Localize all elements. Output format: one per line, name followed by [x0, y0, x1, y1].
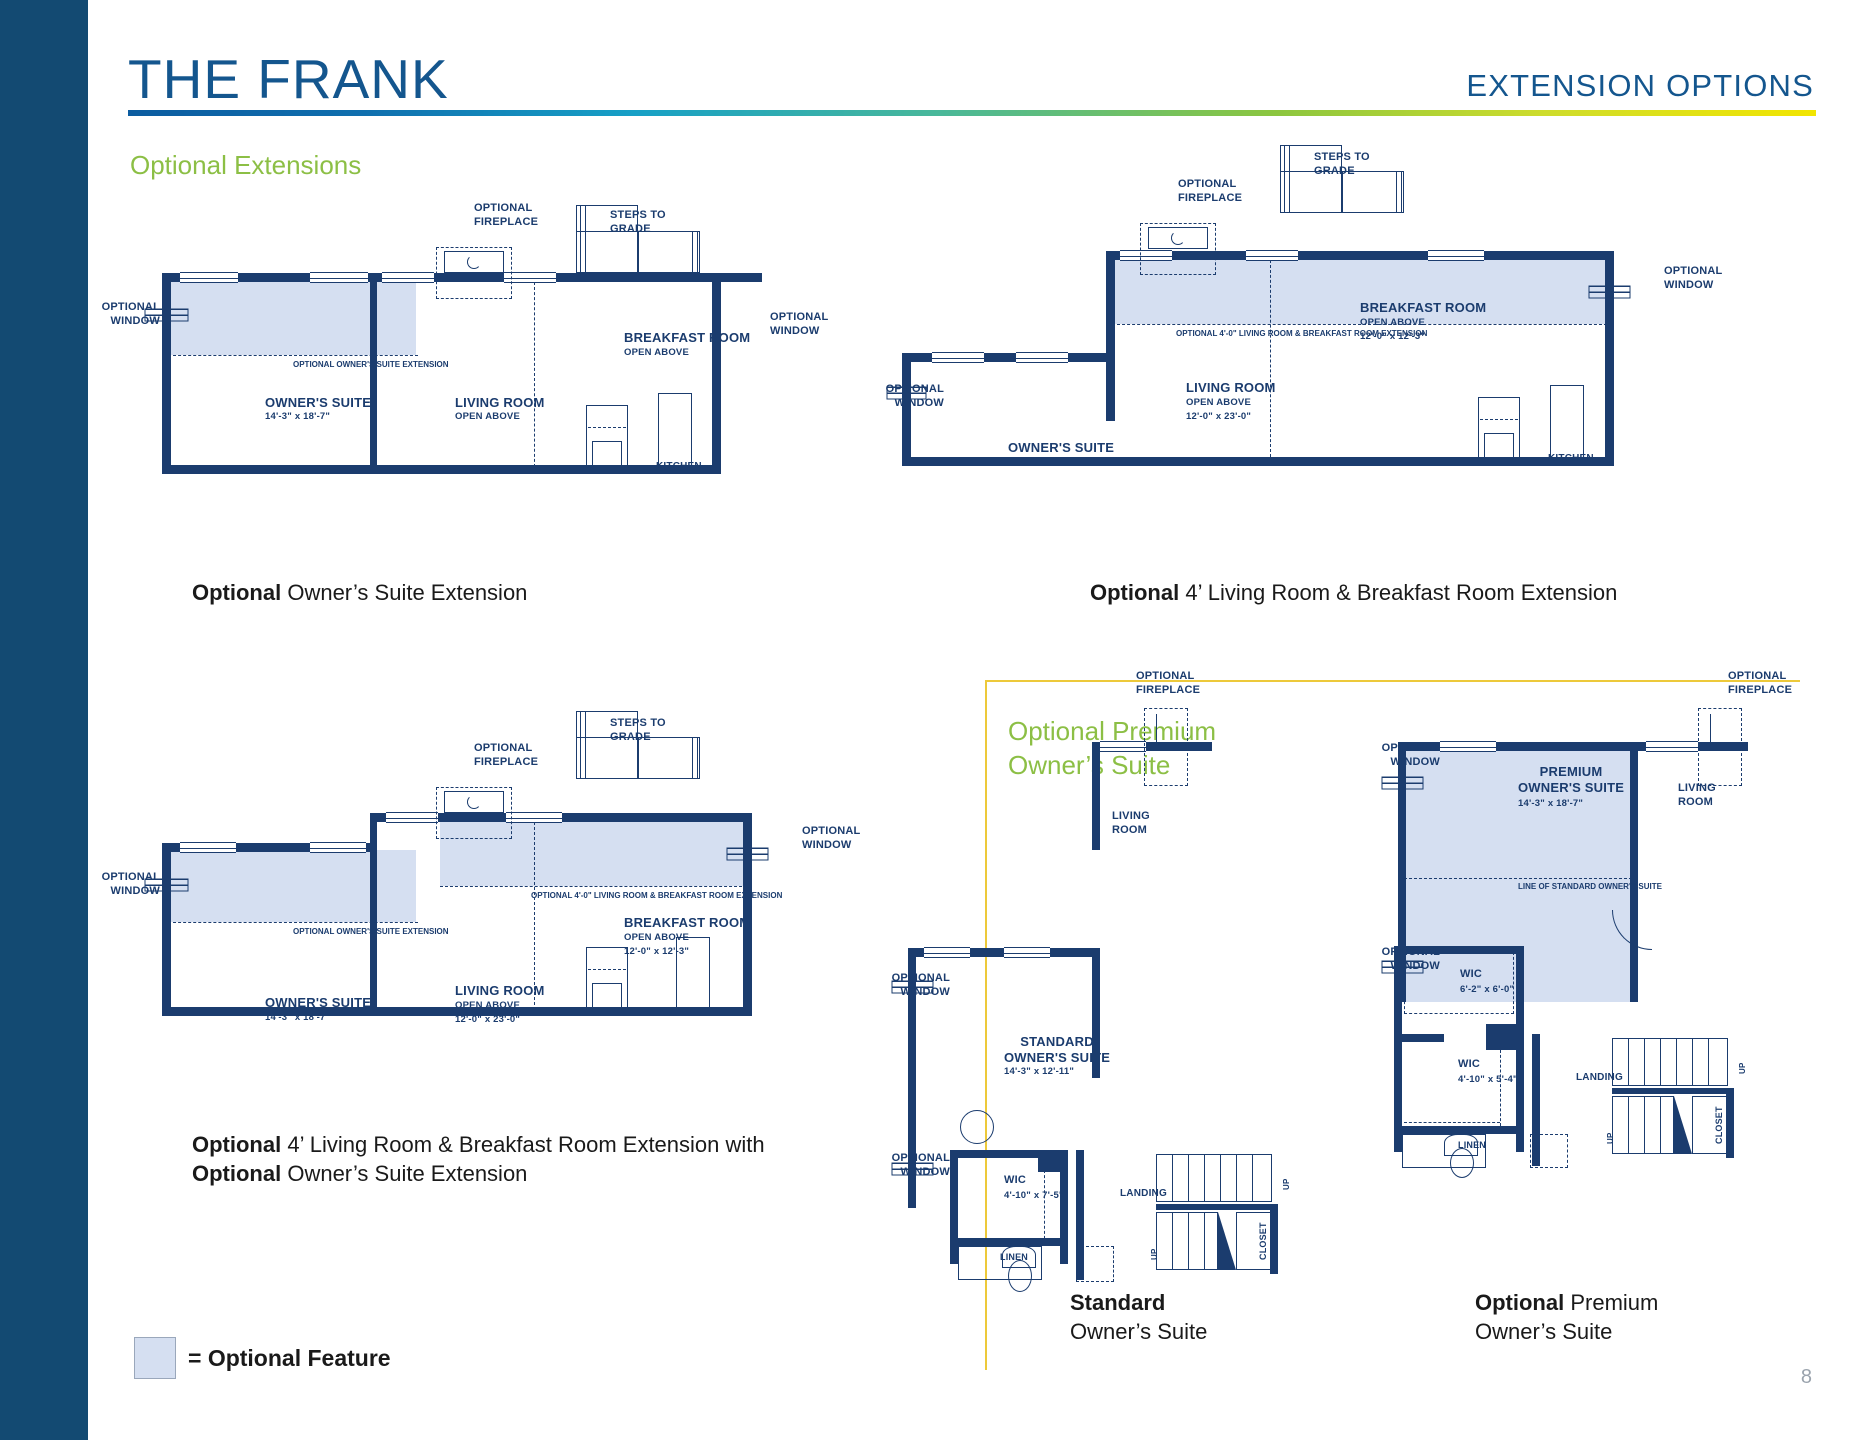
- window-left-2: [310, 842, 366, 853]
- optional-window-right-hatch: [1589, 286, 1631, 299]
- label-owners-suite: OWNER'S SUITE: [1008, 440, 1114, 456]
- stair-flight-upper: [1156, 1154, 1272, 1202]
- header-section-label: EXTENSION OPTIONS: [1466, 68, 1814, 104]
- label-wic-dim: 4'-10" x 7'-5": [1004, 1190, 1064, 1202]
- stair-flight-lower: [1612, 1096, 1674, 1154]
- label-owners-suite-dim: 14'-3" x 18'-7": [265, 1012, 330, 1024]
- stair-mid-rail: [1156, 1204, 1272, 1210]
- caption-premium-suite: Optional Premium Owner’s Suite: [1475, 1288, 1658, 1346]
- label-breakfast-room-dim: 12'-0" x 12'-3": [1360, 331, 1425, 343]
- wall-left: [162, 273, 171, 473]
- wall-bottom: [162, 465, 721, 474]
- label-os-extension-note: OPTIONAL OWNER'S SUITE EXTENSION: [293, 927, 449, 937]
- stair-tread-7: [1172, 1212, 1173, 1270]
- label-breakfast-room-sub: OPEN ABOVE: [624, 932, 689, 944]
- label-premium-owners-suite-dim: 14'-3" x 18'-7": [1518, 798, 1583, 810]
- kitchen-fixture-2: [658, 393, 692, 467]
- floorplan-standard-owners-suite: OPTIONAL FIREPLACE LIVING ROOM OPTIONAL …: [1020, 760, 1420, 1260]
- stair-tread-5: [1692, 1038, 1693, 1086]
- fireplace-arc-icon: [1171, 231, 1185, 245]
- window-top-3: [1428, 250, 1484, 261]
- caption-plan-2-rest: 4’ Living Room & Breakfast Room Extensio…: [1179, 580, 1617, 605]
- label-up-1: UP: [1738, 1062, 1748, 1074]
- caption-premium-line2: Owner’s Suite: [1475, 1319, 1612, 1344]
- caption-premium-bold: Optional: [1475, 1290, 1564, 1315]
- window-owners-1: [932, 352, 984, 363]
- label-up-2: UP: [1150, 1248, 1160, 1260]
- label-up-2: UP: [1606, 1132, 1616, 1144]
- window-top-1: [1440, 741, 1496, 752]
- page-title: THE FRANK: [128, 52, 449, 107]
- caption-standard-suite: Standard Owner’s Suite: [1070, 1288, 1207, 1346]
- label-breakfast-room-sub: OPEN ABOVE: [1360, 317, 1425, 329]
- label-living-room-sub: OPEN ABOVE: [455, 1000, 520, 1012]
- optional-fill-owners-suite: [168, 280, 416, 355]
- wall-wic2-left: [1394, 1034, 1402, 1152]
- left-spine-bar: [0, 0, 88, 1440]
- stair-tread-9: [1204, 1212, 1205, 1270]
- steps-rail-right: [1396, 171, 1402, 213]
- label-wic: WIC: [1004, 1174, 1026, 1188]
- wall-wic1-right: [1516, 946, 1524, 1034]
- stair-tread-6: [1252, 1154, 1253, 1202]
- caption-standard-bold: Standard: [1070, 1290, 1165, 1315]
- caption-plan-3: Optional 4’ Living Room & Breakfast Room…: [192, 1130, 765, 1188]
- label-living-room: LIVING ROOM: [455, 983, 545, 999]
- gradient-rule: [128, 110, 1816, 116]
- kitchen-sink: [592, 441, 622, 467]
- label-living-room: LIVING ROOM: [1186, 380, 1276, 396]
- stair-tread-2: [1188, 1154, 1189, 1202]
- caption-plan-2: Optional 4’ Living Room & Breakfast Room…: [1090, 578, 1617, 607]
- caption-plan-3-rest-1: 4’ Living Room & Breakfast Room Extensio…: [281, 1132, 764, 1157]
- wall-right-suite: [1630, 742, 1638, 1002]
- stair-flight-upper: [1612, 1038, 1728, 1086]
- optional-window-top-hatch: [1382, 777, 1424, 790]
- wall-left-living: [1106, 251, 1115, 421]
- shower-dashed: [1076, 1246, 1114, 1282]
- caption-plan-1: Optional Owner’s Suite Extension: [192, 578, 527, 607]
- label-optional-window-low: OPTIONAL WINDOW: [1378, 946, 1440, 974]
- fireplace-arc-icon: [467, 795, 481, 809]
- page-number: 8: [1801, 1366, 1812, 1389]
- label-kitchen: KITCHEN: [656, 461, 702, 474]
- stair-tread-1: [1628, 1038, 1629, 1086]
- dashed-extension-line: [168, 355, 418, 356]
- window-top-1: [924, 947, 970, 958]
- label-owners-suite: OWNER'S SUITE: [265, 395, 371, 411]
- caption-plan-1-rest: Owner’s Suite Extension: [281, 580, 527, 605]
- window-top-2: [310, 272, 368, 283]
- window-top-1: [180, 272, 238, 283]
- toilet-bowl: [1008, 1260, 1032, 1292]
- stair-mid-rail: [1612, 1088, 1728, 1094]
- steps-rail-right: [692, 231, 698, 273]
- wall-top-right: [690, 273, 762, 282]
- window-lr-top: [1100, 741, 1146, 752]
- label-standard-owners-suite: STANDARD OWNER'S SUITE: [1004, 1034, 1110, 1067]
- steps-rail-left: [580, 711, 586, 779]
- legend-label: = Optional Feature: [188, 1345, 391, 1372]
- wall-right: [1605, 251, 1614, 466]
- label-living-room: LIVING ROOM: [455, 395, 545, 411]
- wall-right: [712, 273, 721, 473]
- window-top-2: [1004, 947, 1050, 958]
- label-breakfast-room: BREAKFAST ROOM: [624, 915, 750, 931]
- window-left-1: [180, 842, 236, 853]
- stair-flight-lower: [1156, 1212, 1218, 1270]
- label-extension-note: OPTIONAL OWNER'S SUITE EXTENSION: [293, 360, 449, 370]
- label-line-of-standard-suite: LINE OF STANDARD OWNER'S SUITE: [1518, 882, 1662, 892]
- stair-tread-8: [1644, 1096, 1645, 1154]
- label-closet: CLOSET: [1258, 1222, 1269, 1260]
- window-top-3: [382, 272, 434, 283]
- wall-closet-right: [1270, 1204, 1278, 1274]
- caption-standard-rest: Owner’s Suite: [1070, 1319, 1207, 1344]
- stair-winder: [1674, 1096, 1692, 1154]
- label-landing: LANDING: [1576, 1072, 1623, 1085]
- label-wic-2-dim: 4'-10" x 5'-4": [1458, 1074, 1518, 1086]
- shower-dashed: [1530, 1134, 1568, 1168]
- label-optional-window-left: OPTIONAL WINDOW: [100, 871, 160, 899]
- stair-tread-9: [1660, 1096, 1661, 1154]
- floorplan-owners-suite-extension: OPTIONAL WINDOW OPTIONAL FIREPLACE STEPS…: [120, 175, 860, 505]
- label-optional-window-low: OPTIONAL WINDOW: [888, 1152, 950, 1180]
- label-kitchen: KITCHEN: [1548, 453, 1594, 466]
- caption-plan-3-bold-2: Optional: [192, 1161, 281, 1186]
- window-top-2: [1246, 250, 1298, 261]
- label-landing: LANDING: [1120, 1188, 1167, 1201]
- label-standard-owners-suite-dim: 14'-3" x 12'-11": [1004, 1066, 1074, 1078]
- label-living-room-dim: 12'-0" x 23'-0": [1186, 411, 1251, 423]
- wall-wic-right: [1060, 1150, 1068, 1264]
- wall-interior-1: [370, 273, 377, 473]
- label-lr-extension-note: OPTIONAL 4'-0" LIVING ROOM & BREAKFAST R…: [531, 891, 782, 901]
- label-closet: CLOSET: [1714, 1106, 1725, 1144]
- label-up-1: UP: [1282, 1178, 1292, 1190]
- steps-landing: [1342, 171, 1404, 213]
- wall-right: [743, 813, 752, 1015]
- stair-tread-1: [1172, 1154, 1173, 1202]
- label-optional-window-mid: OPTIONAL WINDOW: [888, 972, 950, 1000]
- label-breakfast-room: BREAKFAST ROOM: [624, 330, 750, 346]
- stair-tread-5: [1236, 1154, 1237, 1202]
- label-breakfast-room: BREAKFAST ROOM: [1360, 300, 1486, 316]
- stair-tread-6: [1708, 1038, 1709, 1086]
- label-linen: LINEN: [1458, 1140, 1486, 1151]
- label-breakfast-room-sub: OPEN ABOVE: [624, 347, 689, 359]
- kitchen-dash: [588, 427, 626, 428]
- caption-plan-1-bold: Optional: [192, 580, 281, 605]
- wall-linen-top: [1394, 1126, 1524, 1134]
- kitchen-dash: [588, 969, 626, 970]
- fireplace-arc-icon: [467, 255, 481, 269]
- wall-bath-left: [950, 1150, 958, 1264]
- steps-landing: [638, 737, 700, 779]
- bath-sink: [960, 1110, 994, 1144]
- label-optional-window-left: OPTIONAL WINDOW: [100, 301, 160, 329]
- caption-premium-rest: Premium: [1564, 1290, 1658, 1315]
- window-lr-top: [1646, 741, 1698, 752]
- fireplace-inner: [1710, 714, 1736, 744]
- floorplan-both-extensions: OPTIONAL FIREPLACE STEPS TO GRADE OPTION…: [120, 715, 860, 1075]
- optional-fill-owners-suite: [168, 850, 416, 922]
- steps-rail-right: [692, 737, 698, 779]
- wall-lr-left: [1092, 750, 1100, 850]
- dashed-lr-extension-line: [440, 886, 752, 887]
- dashed-room-divider: [534, 282, 535, 472]
- toilet-bowl: [1450, 1148, 1474, 1178]
- dashed-os-extension-line: [168, 922, 418, 923]
- kitchen-fixture-2: [1550, 385, 1584, 459]
- window-top-1: [386, 812, 438, 823]
- window-owners-2: [1016, 352, 1068, 363]
- stair-tread-7: [1628, 1096, 1629, 1154]
- kitchen-sink: [592, 983, 622, 1009]
- kitchen-sink: [1484, 433, 1514, 459]
- caption-plan-3-rest-2: Owner’s Suite Extension: [281, 1161, 527, 1186]
- label-owners-suite-dim: 14'-3" x 18'-7": [265, 411, 330, 423]
- kitchen-dash: [1480, 419, 1518, 420]
- dashed-room-divider: [1270, 260, 1271, 457]
- floorplan-premium-owners-suite: OPTIONAL FIREPLACE OPTIONAL WINDOW OPTIO…: [1430, 760, 1850, 1260]
- wall-left: [162, 843, 171, 1015]
- label-wic-2: WIC: [1458, 1058, 1480, 1072]
- stair-tread-3: [1204, 1154, 1205, 1202]
- optional-window-right-hatch: [727, 848, 769, 861]
- wic2-dashed-shelf-h: [1404, 1122, 1500, 1123]
- fireplace-inner: [1156, 714, 1182, 744]
- wall-closet-right: [1726, 1088, 1734, 1158]
- steps-rail-left: [1284, 145, 1290, 213]
- dashed-line-standard-suite: [1404, 878, 1632, 879]
- wic-dashed-shelf-v: [1044, 1170, 1045, 1244]
- stair-tread-2: [1644, 1038, 1645, 1086]
- steps-landing: [638, 231, 700, 273]
- label-breakfast-room-dim: 12'-0" x 12'-3": [624, 946, 689, 958]
- label-living-room-dim: 12'-0" x 23'-0": [455, 1014, 520, 1026]
- wic2-dashed-shelf-v: [1500, 1050, 1501, 1126]
- floorplan-living-breakfast-extension: OPTIONAL FIREPLACE STEPS TO GRADE OPTION…: [1060, 175, 1800, 505]
- caption-plan-2-bold: Optional: [1090, 580, 1179, 605]
- label-wic-1-dim: 6'-2" x 6'-0": [1460, 984, 1514, 996]
- label-living-room-sub: OPEN ABOVE: [1186, 397, 1251, 409]
- label-premium-owners-suite: PREMIUM OWNER'S SUITE: [1518, 764, 1624, 797]
- stair-tread-3: [1660, 1038, 1661, 1086]
- legend-swatch: [134, 1337, 176, 1379]
- wall-interior-1: [370, 813, 377, 1015]
- label-optional-window-left: OPTIONAL WINDOW: [882, 383, 944, 411]
- label-living-room-sub: OPEN ABOVE: [455, 411, 520, 423]
- stair-tread-4: [1676, 1038, 1677, 1086]
- stair-tread-8: [1188, 1212, 1189, 1270]
- caption-plan-3-bold-1: Optional: [192, 1132, 281, 1157]
- steps-rail-left: [580, 205, 586, 273]
- label-optional-window-top: OPTIONAL WINDOW: [1378, 742, 1440, 770]
- label-wic-1: WIC: [1460, 968, 1482, 982]
- label-owners-suite: OWNER'S SUITE: [265, 995, 371, 1011]
- wall-linen-top: [950, 1238, 1068, 1246]
- label-linen: LINEN: [1000, 1252, 1028, 1263]
- stair-tread-4: [1220, 1154, 1221, 1202]
